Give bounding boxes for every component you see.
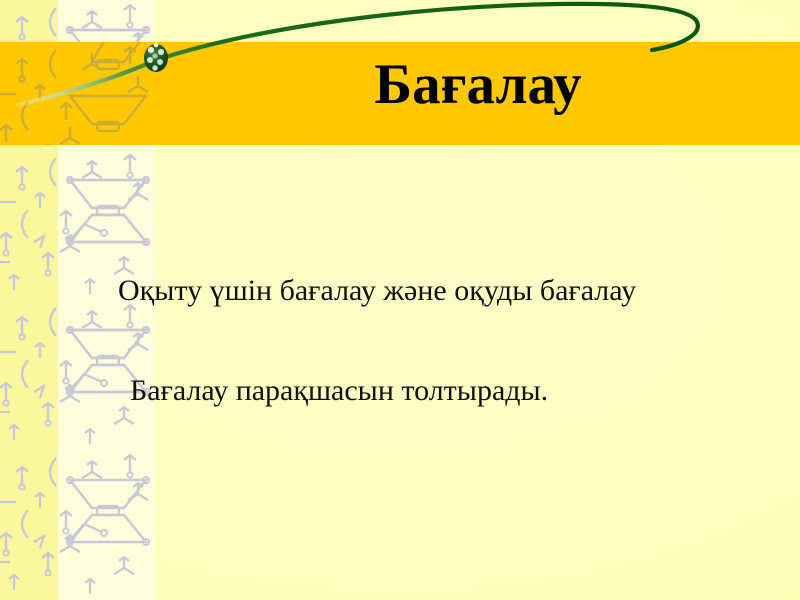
slide-canvas: Бағалау Оқыту үшін бағалау және оқуды ба… bbox=[0, 0, 800, 600]
banner-pattern-overlay bbox=[0, 42, 156, 145]
body-line-1: Оқыту үшін бағалау және оқуды бағалау bbox=[0, 272, 800, 310]
body-line-2: Бағалау парақшасын толтырады. bbox=[0, 372, 800, 410]
body-line-spacer bbox=[0, 310, 800, 372]
slide-title: Бағалау bbox=[156, 50, 800, 120]
slide-body: Оқыту үшін бағалау және оқуды бағалау Ба… bbox=[0, 272, 800, 410]
